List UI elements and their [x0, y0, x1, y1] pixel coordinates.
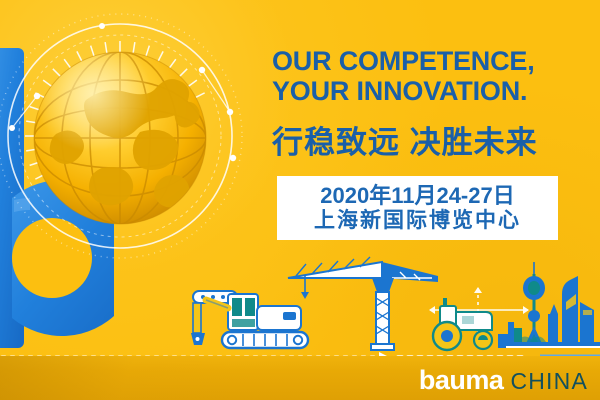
road-roller-icon	[433, 298, 492, 350]
event-info-box: 2020年11月24-27日 上海新国际博览中心	[277, 176, 558, 240]
machinery-scene	[0, 248, 600, 363]
logo-brand-text: bauma	[419, 367, 504, 394]
shanghai-skyline-icon	[498, 262, 600, 348]
headline-line-2: YOUR INNOVATION.	[272, 76, 592, 106]
headline-line-1: OUR COMPETENCE,	[272, 46, 535, 76]
excavator-icon	[206, 294, 308, 348]
tower-crane-icon	[288, 257, 438, 350]
bauma-china-logo: bauma CHINA	[419, 367, 588, 394]
headline: OUR COMPETENCE, YOUR INNOVATION.	[272, 46, 592, 106]
band-sheen	[0, 356, 230, 400]
golden-globe	[0, 8, 250, 268]
chinese-slogan: 行稳致远 决胜未来	[272, 126, 592, 160]
bauma-china-poster: OUR COMPETENCE, YOUR INNOVATION. 行稳致远 决胜…	[0, 0, 600, 400]
event-venue: 上海新国际博览中心	[314, 208, 521, 233]
logo-region-text: CHINA	[510, 370, 588, 393]
event-date: 2020年11月24-27日	[320, 183, 514, 208]
